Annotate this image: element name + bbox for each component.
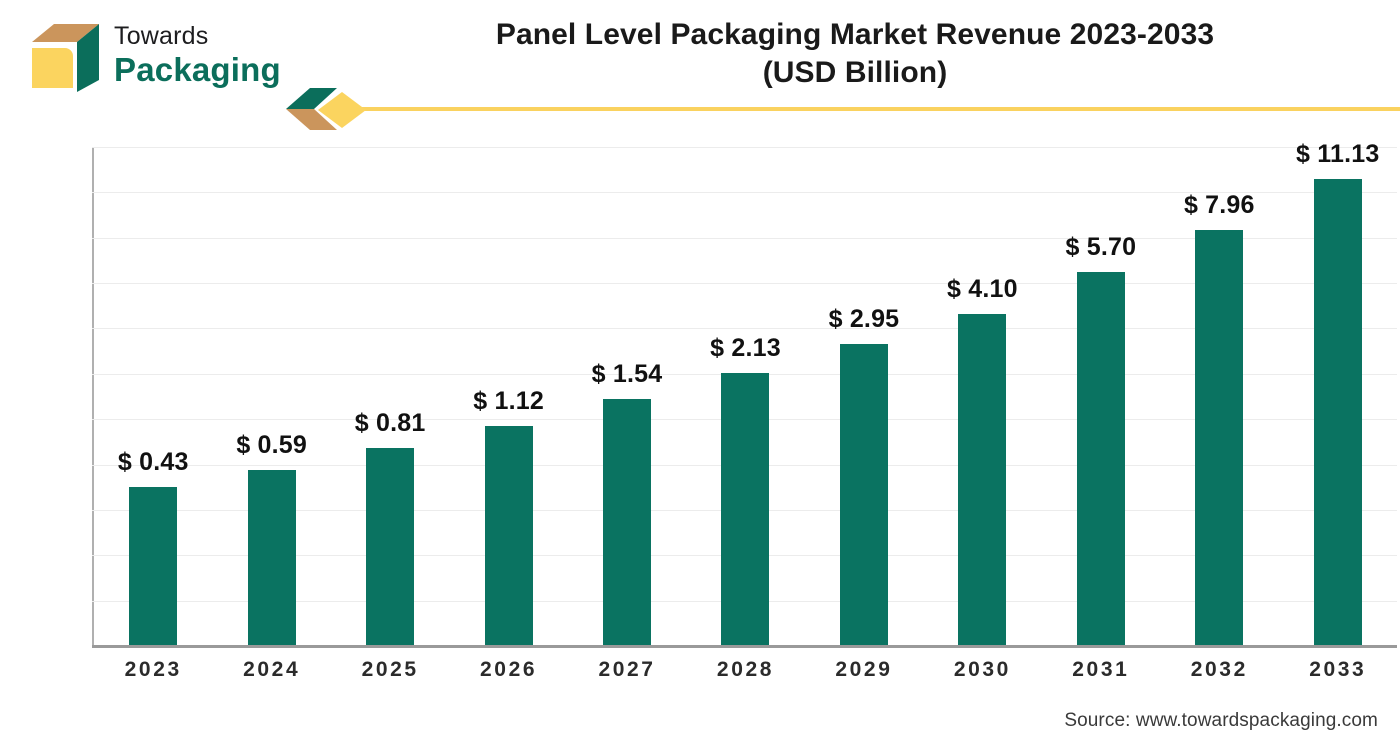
bar-series: $ 0.43$ 0.59$ 0.81$ 1.12$ 1.54$ 2.13$ 2.… xyxy=(94,147,1397,645)
bar-slot: $ 2.13 xyxy=(686,147,804,645)
brand-wordmark: Towards Packaging xyxy=(114,24,281,86)
diamond-icon xyxy=(312,90,372,130)
bar-slot: $ 7.96 xyxy=(1160,147,1278,645)
bar-slot: $ 4.10 xyxy=(923,147,1041,645)
x-axis-tick-label: 2028 xyxy=(686,658,804,682)
bar[interactable] xyxy=(1077,272,1125,645)
header-divider xyxy=(282,88,1400,130)
bar-slot: $ 5.70 xyxy=(1042,147,1160,645)
brand-logo: Towards Packaging xyxy=(22,18,281,92)
bar[interactable] xyxy=(603,399,651,645)
bar[interactable] xyxy=(1195,230,1243,645)
bar-value-label: $ 1.54 xyxy=(592,360,663,389)
bar-value-label: $ 0.43 xyxy=(118,448,189,477)
chart-page: Towards Packaging Panel Level Packaging … xyxy=(0,0,1400,750)
page-title-line1: Panel Level Packaging Market Revenue 202… xyxy=(496,18,1214,51)
bar-value-label: $ 11.13 xyxy=(1296,140,1379,169)
x-axis-tick-label: 2024 xyxy=(212,658,330,682)
brand-name-top: Towards xyxy=(114,24,281,49)
bar-slot: $ 11.13 xyxy=(1279,147,1397,645)
bar-slot: $ 0.43 xyxy=(94,147,212,645)
bar-slot: $ 0.81 xyxy=(331,147,449,645)
bar[interactable] xyxy=(840,344,888,645)
bar[interactable] xyxy=(1314,179,1362,645)
x-axis-line xyxy=(92,645,1397,648)
bar[interactable] xyxy=(248,470,296,645)
chart-plot-area: $ 0.43$ 0.59$ 0.81$ 1.12$ 1.54$ 2.13$ 2.… xyxy=(92,147,1397,646)
x-axis-tick-label: 2031 xyxy=(1042,658,1160,682)
bar[interactable] xyxy=(958,314,1006,645)
bar[interactable] xyxy=(485,426,533,645)
bar-slot: $ 1.12 xyxy=(449,147,567,645)
page-title: Panel Level Packaging Market Revenue 202… xyxy=(330,16,1380,92)
bar-value-label: $ 1.12 xyxy=(473,387,544,416)
x-axis-tick-label: 2027 xyxy=(568,658,686,682)
brand-name-bottom: Packaging xyxy=(114,53,281,86)
bar-slot: $ 0.59 xyxy=(212,147,330,645)
bar-value-label: $ 0.81 xyxy=(355,409,426,438)
bar-value-label: $ 7.96 xyxy=(1184,191,1255,220)
page-header: Towards Packaging Panel Level Packaging … xyxy=(0,0,1400,130)
bar[interactable] xyxy=(366,448,414,645)
cube-logo-icon xyxy=(22,18,100,92)
x-axis-ticks: 2023202420252026202720282029203020312032… xyxy=(94,658,1397,682)
x-axis-tick-label: 2032 xyxy=(1160,658,1278,682)
bar-value-label: $ 2.95 xyxy=(829,305,900,334)
divider-rule xyxy=(344,107,1400,111)
bar-slot: $ 2.95 xyxy=(805,147,923,645)
x-axis-tick-label: 2026 xyxy=(449,658,567,682)
bar[interactable] xyxy=(129,487,177,645)
bar-value-label: $ 4.10 xyxy=(947,275,1018,304)
bar-value-label: $ 5.70 xyxy=(1065,233,1136,262)
source-note: Source: www.towardspackaging.com xyxy=(1064,710,1378,732)
bar[interactable] xyxy=(721,373,769,645)
bar-value-label: $ 2.13 xyxy=(710,334,781,363)
x-axis-tick-label: 2029 xyxy=(805,658,923,682)
page-title-line2: (USD Billion) xyxy=(763,56,948,89)
x-axis-tick-label: 2030 xyxy=(923,658,1041,682)
bar-value-label: $ 0.59 xyxy=(236,431,307,460)
x-axis-tick-label: 2023 xyxy=(94,658,212,682)
bar-slot: $ 1.54 xyxy=(568,147,686,645)
x-axis-tick-label: 2025 xyxy=(331,658,449,682)
x-axis-tick-label: 2033 xyxy=(1279,658,1397,682)
